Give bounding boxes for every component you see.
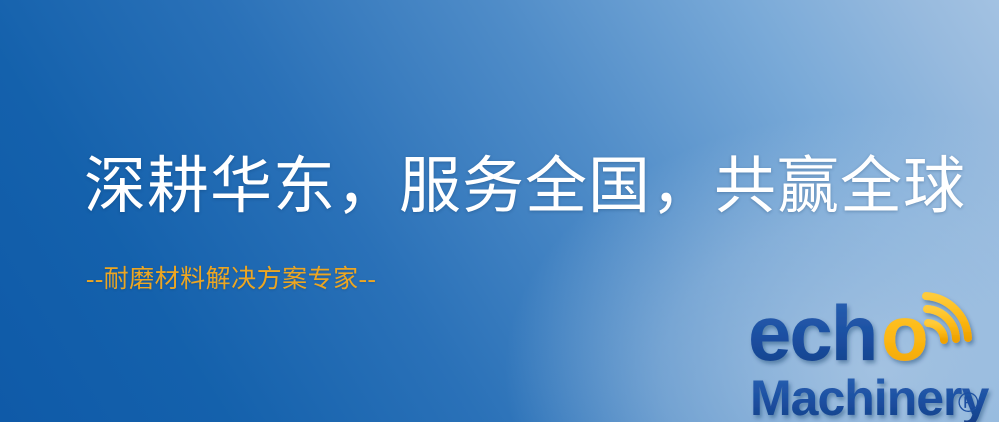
page-title: 深耕华东，服务全国，共赢全球 <box>84 152 966 222</box>
signal-waves-icon <box>926 296 968 340</box>
echo-machinery-logo[interactable]: ech o Machinery ® <box>744 296 999 422</box>
hero-banner: 深耕华东，服务全国，共赢全球 --耐磨材料解决方案专家-- <box>0 0 999 422</box>
logo-wordmark-machinery: Machinery <box>750 370 990 422</box>
logo-wordmark-ech: ech <box>748 289 876 377</box>
page-subtitle: --耐磨材料解决方案专家-- <box>86 264 376 296</box>
logo-wordmark-o: o <box>881 289 929 377</box>
registered-trademark-icon: ® <box>958 387 979 418</box>
